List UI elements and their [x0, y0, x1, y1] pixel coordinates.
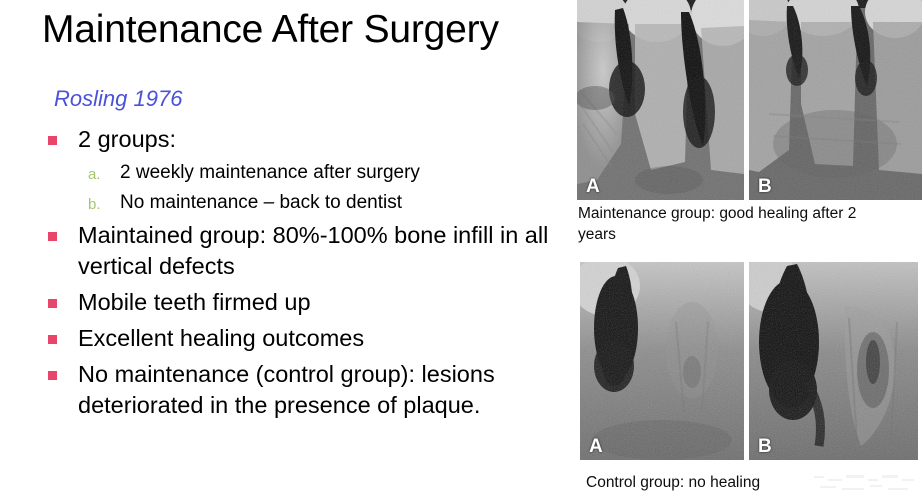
citation-reference: Rosling 1976: [54, 86, 182, 112]
list-item: Excellent healing outcomes: [42, 323, 562, 354]
list-item-label: Maintained group: 80%-100% bone infill i…: [78, 220, 562, 282]
list-item-label: 2 groups:: [78, 124, 176, 155]
radiograph-pair-control: A: [580, 262, 918, 460]
panel-label: A: [586, 177, 600, 196]
list-item: 2 groups:: [42, 124, 562, 155]
list-item-marker: b.: [88, 196, 112, 213]
radiograph-image-bottom-b: B: [749, 262, 918, 460]
figure-caption-top: Maintenance group: good healing after 2 …: [578, 203, 878, 245]
list-item: a. 2 weekly maintenance after surgery: [42, 160, 562, 186]
radiograph-pair-maintenance: A: [577, 0, 922, 200]
filled-square-bullet-icon: [48, 232, 57, 241]
list-item: No maintenance (control group): lesions …: [42, 359, 562, 421]
list-item-label: 2 weekly maintenance after surgery: [120, 160, 420, 186]
page-title: Maintenance After Surgery: [42, 8, 499, 52]
filled-square-bullet-icon: [48, 371, 57, 380]
radiograph-image-top-a: A: [577, 0, 744, 200]
panel-label: B: [758, 177, 772, 196]
list-item-marker: a.: [88, 166, 112, 183]
radiograph-image-bottom-a: A: [580, 262, 744, 460]
filled-square-bullet-icon: [48, 136, 57, 145]
filled-square-bullet-icon: [48, 335, 57, 344]
list-item-label: No maintenance – back to dentist: [120, 190, 402, 216]
list-item: Mobile teeth firmed up: [42, 287, 562, 318]
panel-label: B: [758, 437, 772, 456]
panel-label: A: [589, 437, 603, 456]
slide-canvas: Maintenance After Surgery Rosling 1976 2…: [0, 0, 922, 500]
bullet-list: 2 groups: a. 2 weekly maintenance after …: [42, 124, 562, 426]
list-item-label: No maintenance (control group): lesions …: [78, 359, 562, 421]
list-item: Maintained group: 80%-100% bone infill i…: [42, 220, 562, 282]
watermark-decoration: [812, 470, 916, 496]
filled-square-bullet-icon: [48, 299, 57, 308]
radiograph-image-top-b: B: [749, 0, 922, 200]
list-item-label: Mobile teeth firmed up: [78, 287, 311, 318]
list-item: b. No maintenance – back to dentist: [42, 190, 562, 216]
list-item-label: Excellent healing outcomes: [78, 323, 364, 354]
